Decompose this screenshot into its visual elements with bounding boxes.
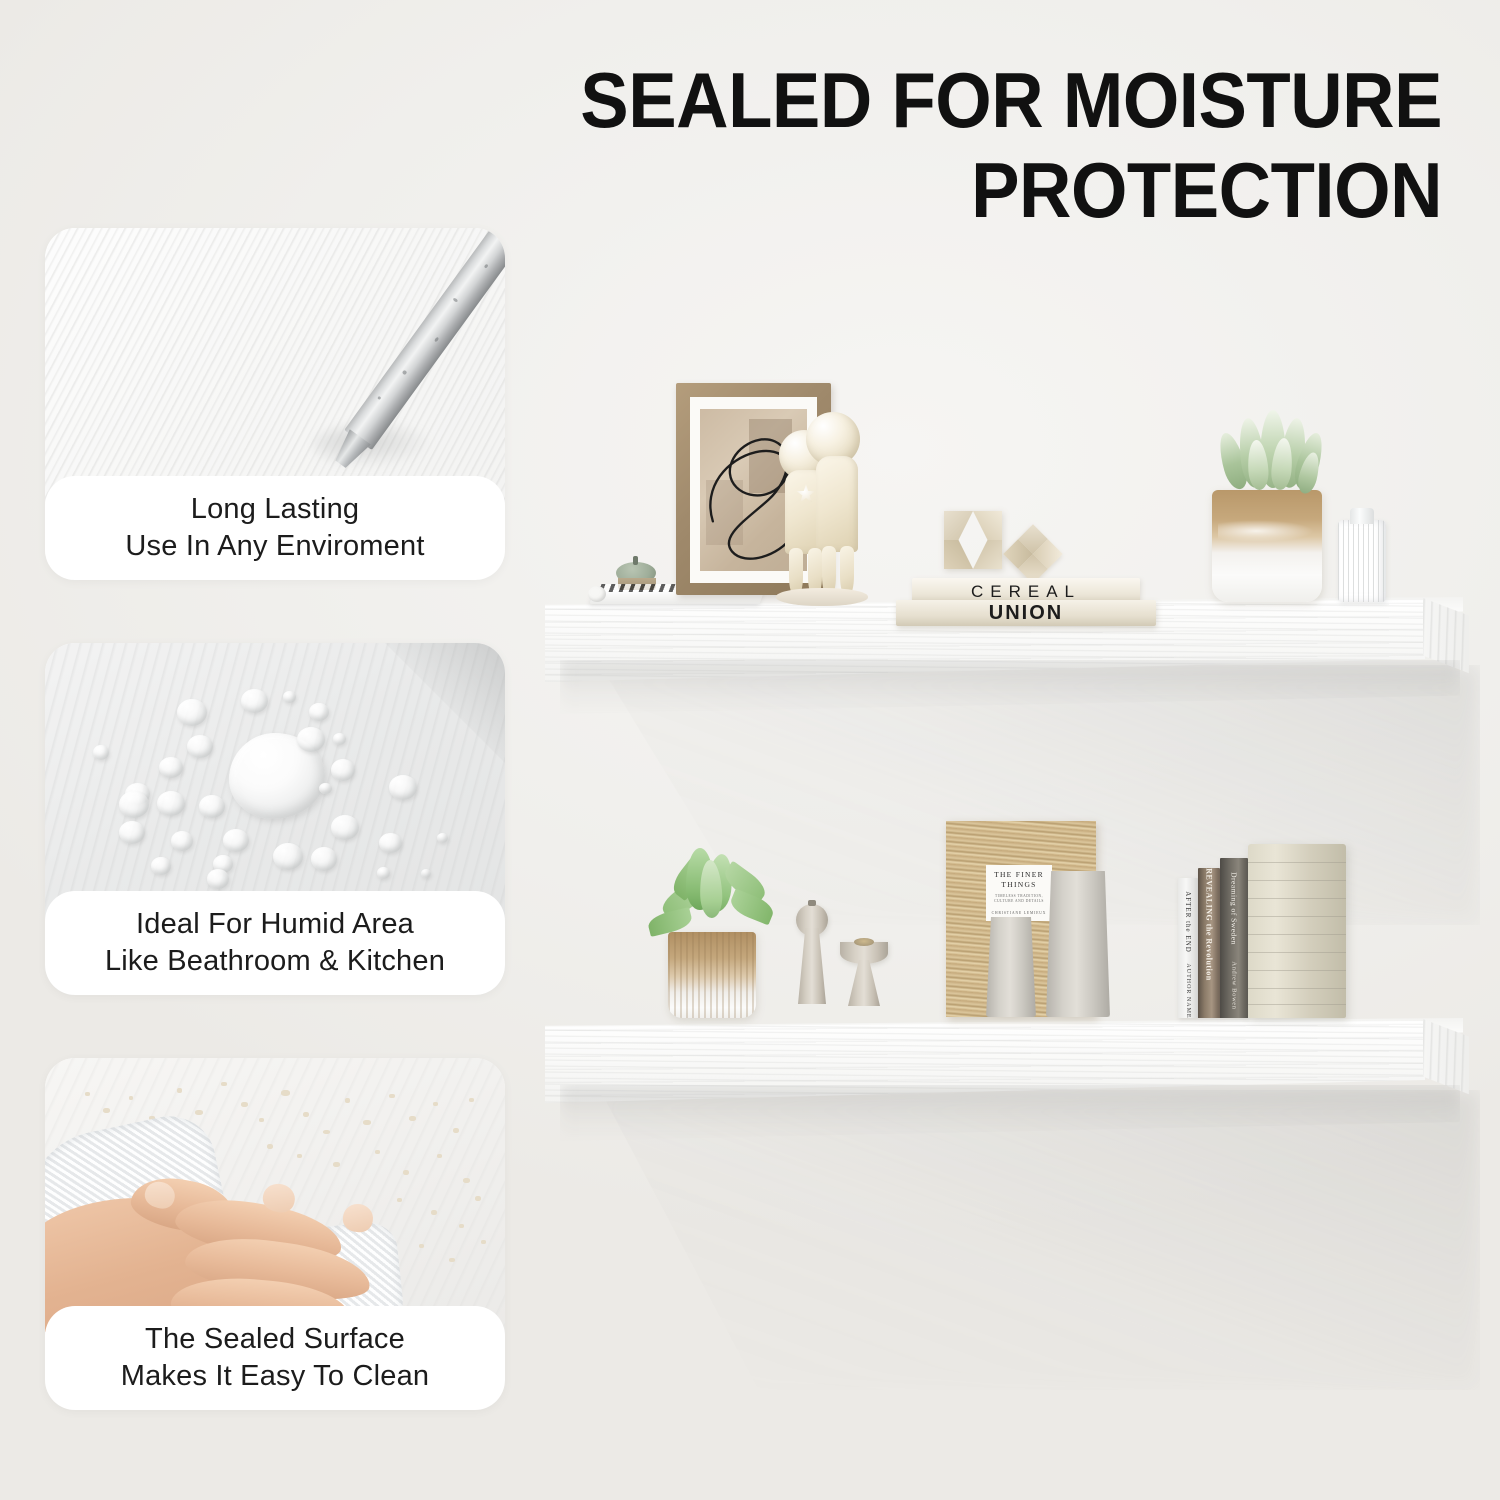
gold-book-author: CHRISTIANE LEMIEUX — [992, 911, 1047, 915]
caption-line-1: Long Lasting — [191, 491, 360, 528]
candle-socket — [808, 900, 816, 906]
geometric-cube-decor-large — [944, 511, 1002, 569]
gold-book-label: THE FINER THINGS TIMELESS TRADITION, CUL… — [986, 865, 1052, 921]
book-dreaming-of-sweden: Dreaming of Sweden Andrew Bowen — [1220, 858, 1248, 1018]
feature-caption-humid-area: Ideal For Humid Area Like Beathroom & Ki… — [45, 891, 505, 995]
succulent-pot — [1212, 490, 1322, 602]
tapered-vase-small — [986, 917, 1036, 1017]
caption-line-2: Use In Any Enviroment — [125, 528, 424, 565]
screwdriver-icon — [344, 228, 505, 450]
product-feature-canvas: SEALED FOR MOISTURE PROTECTION Long Last… — [0, 0, 1500, 1500]
book-cereal-title: CEREAL — [912, 582, 1140, 602]
surface-corner-fold — [385, 643, 505, 763]
book-union: UNION — [896, 600, 1156, 626]
feature-caption-easy-clean: The Sealed Surface Makes It Easy To Clea… — [45, 1306, 505, 1410]
caption-line-1: Ideal For Humid Area — [136, 906, 414, 943]
page-title: SEALED FOR MOISTURE PROTECTION — [430, 62, 1442, 229]
caption-line-1: The Sealed Surface — [145, 1321, 405, 1358]
ribbed-bottle-vase-neck — [1350, 508, 1374, 524]
book-union-title: UNION — [896, 602, 1156, 625]
feature-card-long-lasting: Long Lasting Use In Any Enviroment — [45, 228, 505, 580]
candle-socket — [854, 938, 874, 946]
book-spine-title: Dreaming of Sweden — [1230, 872, 1239, 945]
geometric-cube-decor-small — [1003, 524, 1062, 583]
gold-book-title: THE FINER THINGS — [986, 870, 1052, 890]
book-revealing-the-revolution: REVEALING the Revolution — [1198, 868, 1220, 1018]
feature-caption-long-lasting: Long Lasting Use In Any Enviroment — [45, 476, 505, 580]
book-spine-author: Andrew Bowen — [1231, 961, 1238, 1009]
feature-card-easy-clean: The Sealed Surface Makes It Easy To Clea… — [45, 1058, 505, 1410]
ribbed-bottle-vase — [1338, 520, 1386, 602]
headline-line-1: SEALED FOR MOISTURE — [501, 62, 1442, 138]
book-after-the-end: AFTER the END AUTHOR NAME — [1178, 878, 1198, 1018]
headline-line-2: PROTECTION — [501, 152, 1442, 228]
book-spine-author: AUTHOR NAME — [1185, 963, 1191, 1018]
book-spine-title: REVEALING the Revolution — [1205, 868, 1214, 980]
book-stack-cream — [1248, 844, 1346, 1018]
tapered-vase-large — [1046, 871, 1110, 1017]
caption-line-2: Like Beathroom & Kitchen — [105, 943, 445, 980]
caption-line-2: Makes It Easy To Clean — [121, 1358, 430, 1395]
gold-book-subtitle: TIMELESS TRADITION, CULTURE AND DETAILS — [986, 894, 1052, 905]
small-white-ball — [588, 586, 606, 602]
feature-card-humid-area: Ideal For Humid Area Like Beathroom & Ki… — [45, 643, 505, 995]
leafy-plant-pot — [668, 932, 756, 1018]
pumpkin-stem — [633, 556, 638, 565]
book-spine-title: AFTER the END — [1184, 891, 1192, 953]
